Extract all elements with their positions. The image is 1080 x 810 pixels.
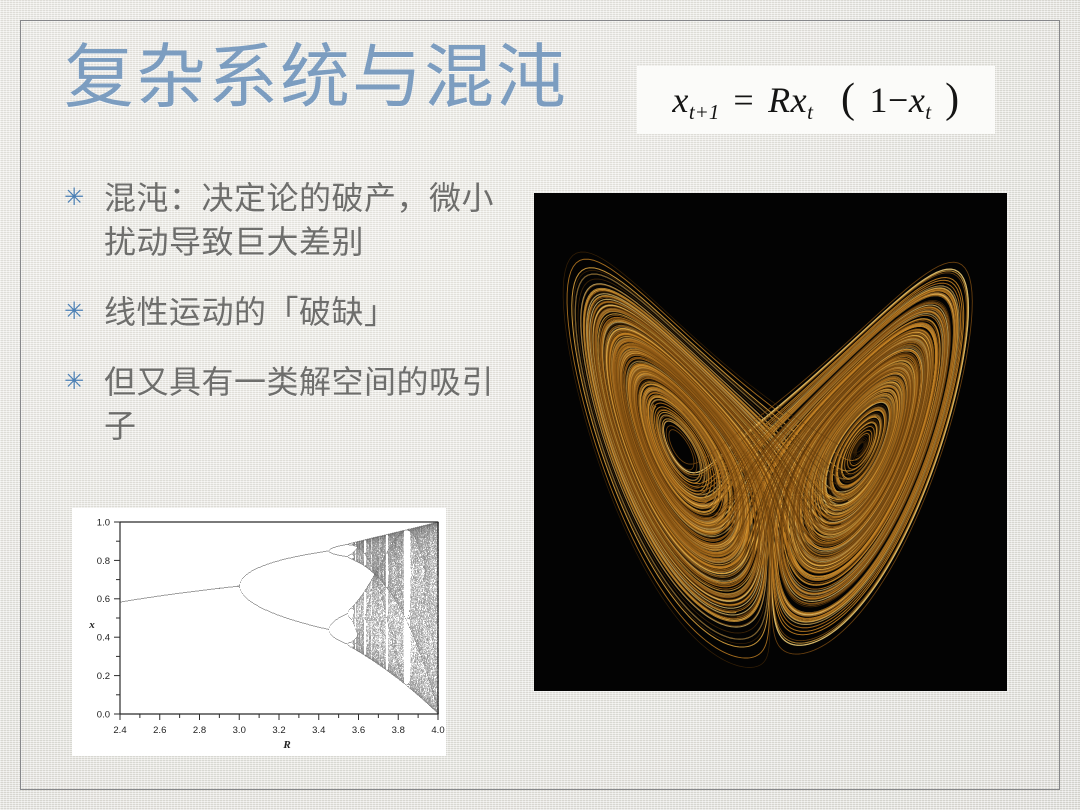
formula-factor-subscript: t: [925, 100, 931, 124]
bifurcation-chart-svg: 2.42.62.83.03.23.43.63.84.00.00.20.40.60…: [72, 508, 446, 756]
bullet-list: ✳ 混沌：决定论的破产，微小扰动导致巨大差别 ✳ 线性运动的「破缺」 ✳ 但又具…: [60, 176, 512, 474]
formula-lhs-subscript: t+1: [689, 100, 720, 124]
asterisk-bullet-icon: ✳: [60, 290, 104, 334]
formula-lhs-var: x: [672, 80, 688, 120]
lorenz-attractor-svg: [534, 193, 1007, 691]
list-item: ✳ 但又具有一类解空间的吸引子: [60, 360, 512, 448]
formula-rhs-subscript: t: [807, 100, 813, 124]
bifurcation-diagram: 2.42.62.83.03.23.43.63.84.00.00.20.40.60…: [72, 508, 446, 756]
chart-background: [72, 508, 446, 756]
list-item: ✳ 线性运动的「破缺」: [60, 290, 512, 334]
y-axis-label: x: [88, 619, 95, 631]
bullet-text: 线性运动的「破缺」: [104, 290, 512, 334]
formula-coefficient: R: [768, 80, 791, 120]
asterisk-bullet-icon: ✳: [60, 360, 104, 404]
bullet-text: 混沌：决定论的破产，微小扰动导致巨大差别: [104, 176, 512, 264]
list-item: ✳ 混沌：决定论的破产，微小扰动导致巨大差别: [60, 176, 512, 264]
formula-equals: =: [733, 80, 754, 120]
formula-open-paren: (: [841, 76, 856, 122]
x-axis-label: R: [282, 739, 290, 751]
bullet-text: 但又具有一类解空间的吸引子: [104, 360, 512, 448]
formula-rhs-var: x: [791, 80, 807, 120]
slide-canvas: 复杂系统与混沌 xt+1=Rxt(1−xt) ✳ 混沌：决定论的破产，微小扰动导…: [0, 0, 1080, 810]
logistic-map-formula: xt+1=Rxt(1−xt): [672, 75, 959, 125]
page-title: 复杂系统与混沌: [64, 42, 568, 112]
formula-factor-var: x: [909, 80, 925, 120]
formula-box: xt+1=Rxt(1−xt): [637, 66, 995, 134]
formula-close-paren: ): [945, 76, 960, 122]
lorenz-attractor-image: [534, 193, 1007, 691]
formula-minus: −: [888, 80, 909, 120]
asterisk-bullet-icon: ✳: [60, 176, 104, 220]
formula-one: 1: [870, 80, 889, 120]
